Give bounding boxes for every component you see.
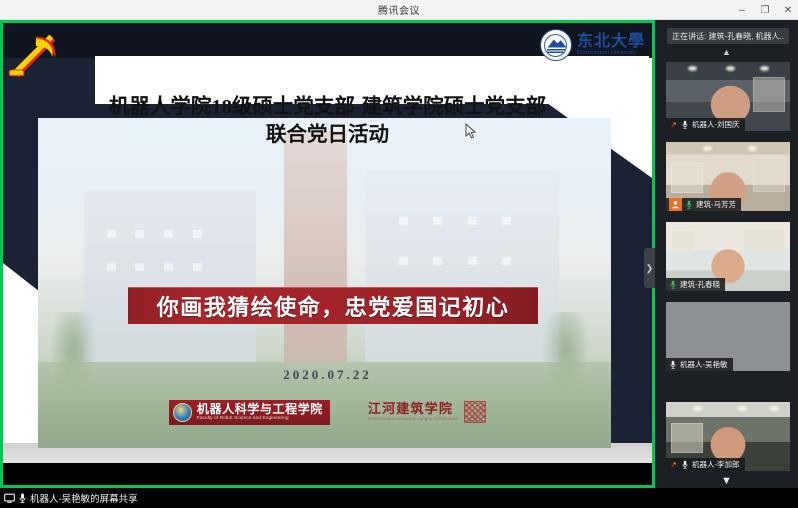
avatar — [669, 198, 682, 211]
slide-title-line-2: 联合党日活动 — [0, 122, 655, 150]
mic-icon — [685, 200, 693, 209]
slide-title-line-1: 机器人学院18级硕士党支部-建筑学院硕士党支部 — [109, 96, 546, 118]
mic-icon — [669, 360, 677, 369]
participant-filmstrip[interactable]: 正在讲话: 建筑-孔春晓, 机器人... ▲ 机器人-刘国庆 — [655, 20, 798, 488]
host-badge-icon — [669, 120, 678, 129]
neu-seal-icon — [540, 29, 572, 61]
mic-icon — [18, 492, 27, 504]
chevron-down-icon[interactable]: ▼ — [655, 476, 798, 486]
jangho-logo-en: Northeastern University Jangho Architect… — [368, 417, 458, 422]
shared-screen-stage[interactable]: 东北大學 Northeastern University 机器人学院18级硕士党… — [0, 20, 655, 488]
participant-name: 建筑-孔春晓 — [680, 279, 720, 290]
participant-name-badge: 机器人-刘国庆 — [666, 118, 745, 131]
active-speaker-label: 正在讲话: 建筑-孔春晓, 机器人... — [672, 31, 784, 42]
slide-date: 2020.07.22 — [0, 367, 655, 383]
mic-icon — [669, 280, 677, 289]
mic-icon — [681, 120, 689, 129]
participant-name-badge: 建筑-马芳芳 — [666, 198, 741, 211]
minimize-button[interactable]: – — [736, 3, 748, 17]
robot-school-logo-en: Faculty of Robot Science and Engineering — [197, 416, 323, 421]
collapse-panel-button[interactable]: ❯ — [644, 248, 655, 288]
slide-title: 机器人学院18级硕士党支部-建筑学院硕士党支部 联合党日活动 — [0, 94, 655, 149]
participant-tile[interactable]: 建筑-马芳芳 — [666, 142, 790, 211]
jangho-school-logo: 江河建筑学院 Northeastern University Jangho Ar… — [368, 401, 486, 423]
participant-name: 机器人-李加郎 — [692, 459, 740, 470]
monitor-icon — [4, 493, 15, 504]
shared-screen-letterbox — [3, 463, 652, 485]
slide-banner-text: 你画我猜绘使命，忠党爱国记初心 — [157, 290, 510, 322]
slide-footer-logos: 机器人科学与工程学院 Faculty of Robot Science and … — [0, 395, 655, 429]
active-speaker-indicator: 正在讲话: 建筑-孔春晓, 机器人... — [667, 28, 789, 44]
slide-theme-banner: 你画我猜绘使命，忠党爱国记初心 — [128, 287, 538, 324]
close-button[interactable]: ✕ — [782, 3, 794, 17]
jangho-logo-cn: 江河建筑学院 — [368, 402, 458, 416]
screen-share-status-bar: 机器人-吴艳敏的屏幕共享 — [0, 488, 798, 508]
participant-name: 机器人-吴艳敏 — [680, 359, 728, 370]
participant-name-badge: 机器人-李加郎 — [666, 458, 745, 471]
participant-name-badge: 机器人-吴艳敏 — [666, 358, 733, 371]
mouse-cursor — [465, 123, 476, 139]
participant-tile[interactable]: 建筑-孔春晓 — [666, 222, 790, 291]
participant-tile[interactable]: 机器人-刘国庆 — [666, 62, 790, 131]
jangho-seal-icon — [464, 401, 486, 423]
hammer-and-sickle-icon — [4, 25, 62, 83]
participant-name-badge: 建筑-孔春晓 — [666, 278, 725, 291]
participant-name: 机器人-刘国庆 — [692, 119, 740, 130]
window-controls: – ❐ ✕ — [736, 0, 794, 20]
neu-logo-en: Northeastern University — [577, 51, 645, 56]
participant-tile[interactable]: 机器人-李加郎 — [666, 402, 790, 471]
chevron-up-icon[interactable]: ▲ — [655, 48, 798, 56]
screen-share-label: 机器人-吴艳敏的屏幕共享 — [30, 491, 138, 505]
maximize-button[interactable]: ❐ — [759, 3, 771, 17]
robot-school-logo: 机器人科学与工程学院 Faculty of Robot Science and … — [169, 400, 330, 425]
participant-name: 建筑-马芳芳 — [696, 199, 736, 210]
robot-school-seal-icon — [173, 403, 192, 422]
window-titlebar: 腾讯会议 – ❐ ✕ — [0, 0, 798, 20]
northeastern-university-logo: 东北大學 Northeastern University — [540, 28, 645, 62]
mic-icon — [681, 460, 689, 469]
window-title: 腾讯会议 — [378, 2, 420, 17]
participant-tile[interactable]: 机器人-吴艳敏 — [666, 302, 790, 371]
host-badge-icon — [669, 460, 678, 469]
neu-logo-cn: 东北大學 — [577, 34, 645, 51]
